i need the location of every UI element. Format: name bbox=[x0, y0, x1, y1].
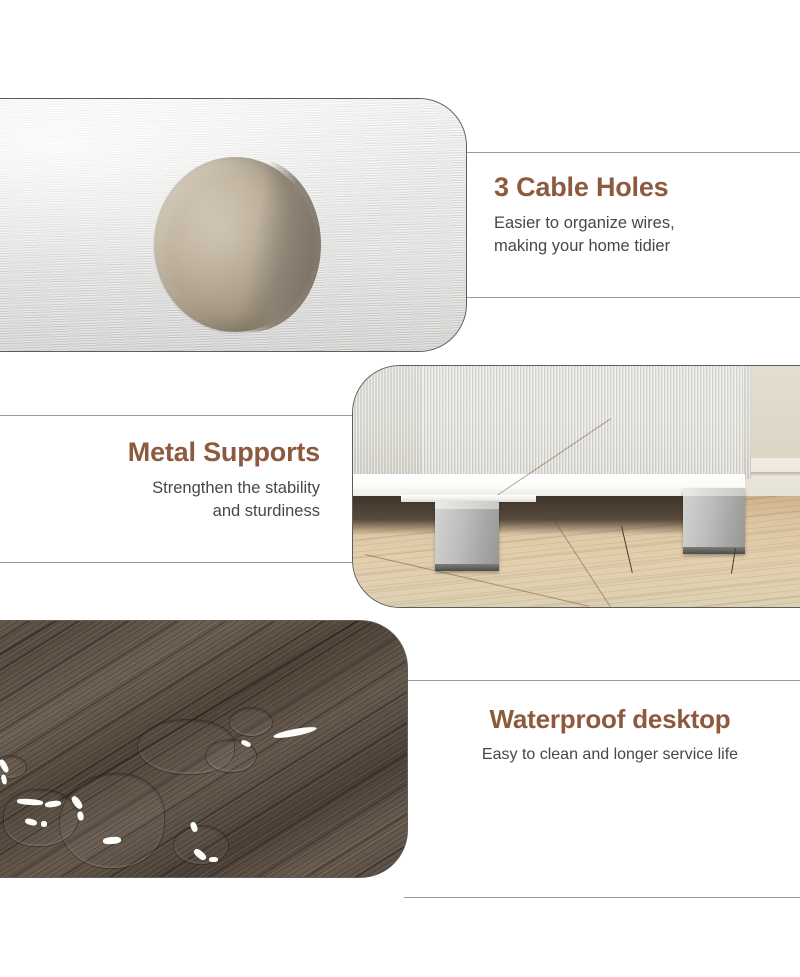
connector-line-metal-supports-bottom bbox=[0, 562, 358, 563]
feature-image-cable-holes bbox=[0, 98, 467, 352]
feature-text-metal-supports: Metal Supports Strengthen the stability … bbox=[30, 437, 320, 524]
product-feature-infographic: 3 Cable Holes Easier to organize wires, … bbox=[0, 0, 800, 977]
feature-title-waterproof-desktop: Waterproof desktop bbox=[428, 705, 792, 735]
cable-grommet-hole bbox=[154, 157, 316, 332]
feature-subtitle-line: Easier to organize wires, bbox=[494, 212, 794, 235]
feature-subtitle-line: and sturdiness bbox=[30, 500, 320, 523]
feature-image-metal-supports bbox=[352, 365, 800, 608]
feature-subtitle-line: making your home tidier bbox=[494, 235, 794, 258]
feature-title-cable-holes: 3 Cable Holes bbox=[494, 172, 794, 203]
connector-line-cable-holes-bottom bbox=[462, 297, 800, 298]
cabinet-body bbox=[423, 366, 743, 491]
leg-top-face bbox=[435, 501, 499, 509]
baseboard-groove bbox=[751, 472, 800, 477]
metal-leg-left bbox=[435, 501, 499, 571]
right-wall bbox=[751, 366, 800, 462]
droplet-highlight bbox=[41, 821, 47, 827]
feature-subtitle-cable-holes: Easier to organize wires, making your ho… bbox=[494, 212, 794, 259]
connector-line-metal-supports-top bbox=[0, 415, 358, 416]
feature-subtitle-line: Strengthen the stability bbox=[30, 477, 320, 500]
feature-title-metal-supports: Metal Supports bbox=[30, 437, 320, 468]
feature-image-waterproof-desktop bbox=[0, 620, 408, 878]
droplet-highlight bbox=[209, 857, 218, 862]
feature-text-waterproof-desktop: Waterproof desktop Easy to clean and lon… bbox=[428, 705, 792, 767]
feature-subtitle-waterproof-desktop: Easy to clean and longer service life bbox=[428, 744, 792, 767]
feature-subtitle-metal-supports: Strengthen the stability and sturdiness bbox=[30, 477, 320, 524]
connector-line-waterproof-top bbox=[404, 680, 800, 681]
connector-line-cable-holes-top bbox=[462, 152, 800, 153]
leg-foot-pad bbox=[435, 564, 499, 571]
water-droplet bbox=[229, 707, 273, 737]
feature-subtitle-line: Easy to clean and longer service life bbox=[428, 744, 792, 767]
feature-text-cable-holes: 3 Cable Holes Easier to organize wires, … bbox=[494, 172, 794, 259]
leg-top-face bbox=[683, 488, 745, 496]
metal-leg-right bbox=[683, 488, 745, 554]
connector-line-waterproof-bottom bbox=[404, 897, 800, 898]
